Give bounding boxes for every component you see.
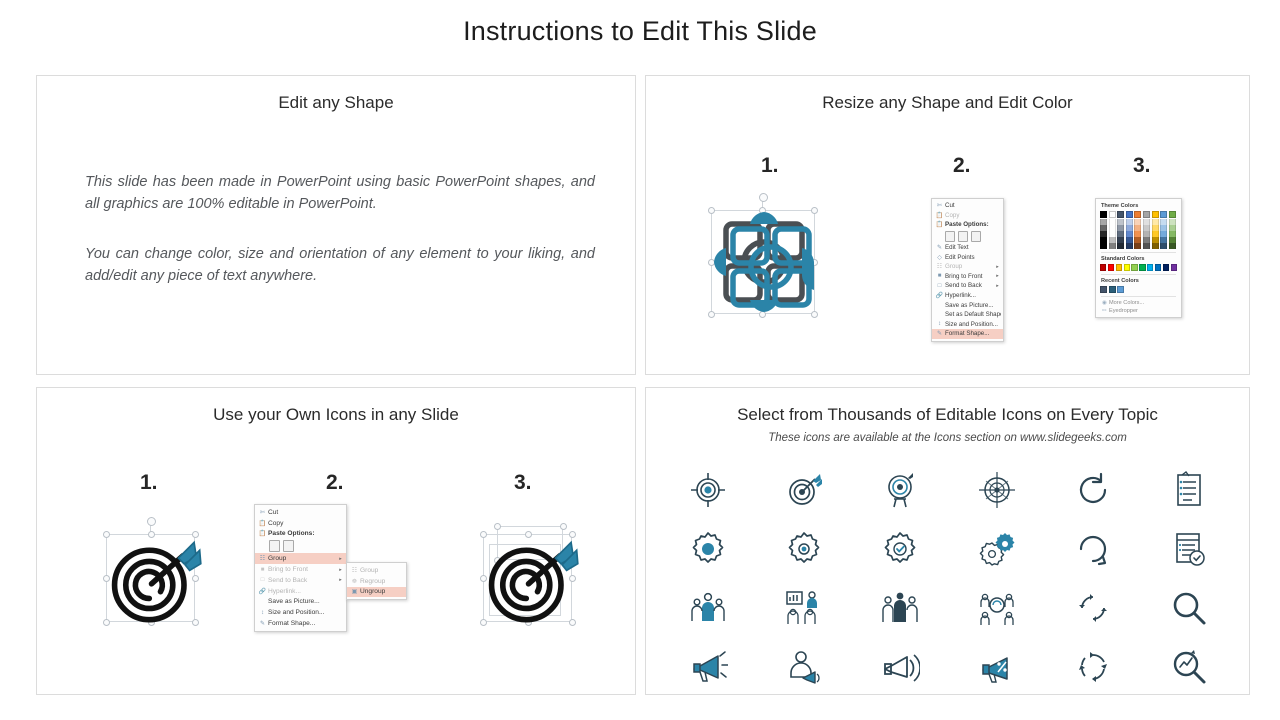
- panel-title-resize-shape: Resize any Shape and Edit Color: [646, 93, 1249, 113]
- palette-icon: ◉: [1100, 300, 1109, 306]
- icons-step-number-1: 1.: [140, 471, 158, 495]
- menu-item-label: Edit Points: [945, 254, 1001, 261]
- context-menu-group[interactable]: ✄Cut 📋Copy 📋Paste Options: ☷Group▸ ■Brin…: [254, 504, 347, 632]
- edit-points-icon: ◇: [934, 254, 945, 261]
- icon-cell-2-2[interactable]: [880, 588, 920, 628]
- standard-swatch-7[interactable]: [1155, 264, 1161, 271]
- chevron-right-icon: ▸: [994, 283, 1001, 289]
- bring-front-icon: ■: [934, 273, 945, 279]
- theme-tint-column-3[interactable]: [1126, 219, 1133, 249]
- menu-item-group[interactable]: ☷Group▸: [932, 262, 1003, 272]
- paste-icon: 📋: [257, 530, 268, 537]
- menu-item-label: Send to Back: [945, 282, 994, 289]
- double-gears-icon: [977, 529, 1017, 569]
- gear-outline-icon: [784, 529, 824, 569]
- divider: [1101, 252, 1176, 253]
- group-icon: ☷: [257, 555, 268, 562]
- paste-options-row[interactable]: [255, 539, 346, 553]
- eyedropper-item[interactable]: ✏Eyedropper: [1100, 308, 1177, 314]
- resize-step-number-2: 2.: [953, 154, 971, 178]
- ungroup-icon: ▣: [349, 588, 360, 595]
- menu-item-bring-to-front[interactable]: ■Bring to Front▸: [932, 272, 1003, 282]
- slide-canvas: Instructions to Edit This Slide Edit any…: [0, 0, 1280, 720]
- menu-item-save-as-picture[interactable]: Save as Picture...: [255, 596, 346, 607]
- paste-picture-icon[interactable]: [971, 231, 981, 242]
- edit-text-icon: ✎: [934, 244, 945, 251]
- scissors-icon: ✄: [257, 509, 268, 516]
- theme-swatch-1[interactable]: [1109, 211, 1116, 218]
- theme-tint-column-7[interactable]: [1160, 219, 1167, 249]
- icon-cell-1-0[interactable]: [688, 529, 728, 569]
- send-back-icon: □: [257, 577, 268, 583]
- menu-item-label: Send to Back: [268, 577, 337, 584]
- menu-item-paste-options[interactable]: 📋Paste Options:: [255, 529, 346, 540]
- menu-item-label: Format Shape...: [945, 330, 1001, 337]
- icons-step-number-2: 2.: [326, 471, 344, 495]
- submenu-item-group[interactable]: ☷Group: [347, 565, 406, 576]
- copy-icon: 📋: [257, 520, 268, 527]
- standard-swatch-1[interactable]: [1108, 264, 1114, 271]
- menu-item-format-shape[interactable]: ✎Format Shape...: [255, 618, 346, 629]
- menu-item-send-to-back[interactable]: □Send to Back▸: [932, 281, 1003, 291]
- menu-item-cut[interactable]: ✄Cut: [932, 201, 1003, 211]
- icon-cell-1-2[interactable]: [880, 529, 920, 569]
- icon-cell-3-2[interactable]: [880, 647, 920, 687]
- paste-icon: 📋: [934, 221, 945, 228]
- theme-tint-7-4[interactable]: [1160, 243, 1167, 249]
- presentation-team-icon: [784, 588, 824, 628]
- menu-item-label: Edit Text: [945, 244, 1001, 251]
- checklist-document-icon: [1169, 470, 1209, 510]
- icon-cell-3-0[interactable]: [688, 647, 728, 687]
- theme-colors-label: Theme Colors: [1101, 203, 1177, 209]
- theme-tint-column-8[interactable]: [1169, 219, 1176, 249]
- icon-cell-2-1[interactable]: [784, 588, 824, 628]
- chevron-right-icon: ▸: [337, 567, 344, 573]
- edit-shape-paragraph-1: This slide has been made in PowerPoint u…: [85, 171, 595, 216]
- recent-colors-row[interactable]: [1100, 286, 1177, 293]
- panel-resize-shape: Resize any Shape and Edit Color 1. 2. 3.: [645, 75, 1250, 375]
- paste-keep-formatting-icon[interactable]: [945, 231, 955, 242]
- theme-tint-4-4[interactable]: [1134, 243, 1141, 249]
- regroup-icon: ☸: [349, 578, 360, 585]
- standard-swatch-9[interactable]: [1171, 264, 1177, 271]
- menu-item-format-shape[interactable]: ✎Format Shape...: [932, 329, 1003, 339]
- edit-shape-paragraph-2: You can change color, size and orientati…: [85, 243, 595, 288]
- theme-tint-column-2[interactable]: [1117, 219, 1124, 249]
- scissors-icon: ✄: [934, 202, 945, 209]
- paste-keep-formatting-icon[interactable]: [269, 540, 280, 552]
- theme-tint-5-4[interactable]: [1143, 243, 1150, 249]
- menu-item-label: Size and Position...: [945, 321, 1001, 328]
- menu-item-size-and-position[interactable]: ↕Size and Position...: [932, 320, 1003, 330]
- menu-item-hyperlink[interactable]: 🔗Hyperlink...: [932, 291, 1003, 301]
- theme-swatch-5[interactable]: [1143, 211, 1150, 218]
- menu-item-label: Save as Picture...: [268, 598, 344, 605]
- recent-colors-label: Recent Colors: [1101, 278, 1177, 284]
- icon-grid: [660, 460, 1237, 696]
- icon-cell-1-3[interactable]: [977, 529, 1017, 569]
- icon-cell-0-4[interactable]: [1073, 470, 1113, 510]
- target-stand-icon: [880, 470, 920, 510]
- recent-swatch-2[interactable]: [1117, 286, 1124, 293]
- hyperlink-icon: 🔗: [257, 588, 268, 595]
- icon-cell-2-3[interactable]: [977, 588, 1017, 628]
- chevron-right-icon: ▸: [337, 577, 344, 583]
- theme-swatch-4[interactable]: [1134, 211, 1141, 218]
- menu-item-bring-to-front[interactable]: ■Bring to Front▸: [255, 564, 346, 575]
- refresh-circular-icon: [1073, 529, 1113, 569]
- chevron-right-icon: ▸: [994, 273, 1001, 279]
- theme-tints-grid[interactable]: [1100, 219, 1177, 249]
- menu-item-label: Format Shape...: [268, 620, 344, 627]
- recent-swatch-0[interactable]: [1100, 286, 1107, 293]
- theme-tint-0-4[interactable]: [1100, 243, 1107, 249]
- panel-title-edit-shape: Edit any Shape: [37, 93, 635, 113]
- divider: [1101, 296, 1176, 297]
- panel-own-icons: Use your Own Icons in any Slide 1. 2. 3.: [36, 387, 636, 695]
- standard-swatch-0[interactable]: [1100, 264, 1106, 271]
- size-position-icon: ↕: [257, 610, 268, 616]
- standard-colors-row[interactable]: [1100, 264, 1177, 271]
- standard-swatch-3[interactable]: [1124, 264, 1130, 271]
- format-shape-icon: ✎: [934, 330, 945, 337]
- group-people-icon: [880, 588, 920, 628]
- magnifier-icon: [1169, 588, 1209, 628]
- megaphone-filled-icon: [688, 647, 728, 687]
- target-dart-icon: [100, 520, 212, 632]
- target-icon-grouped[interactable]: [100, 520, 212, 632]
- menu-item-label: Hyperlink...: [268, 588, 344, 595]
- group-icon: ☷: [934, 263, 945, 270]
- resize-step-number-3: 3.: [1133, 154, 1151, 178]
- document-check-icon: [1169, 529, 1209, 569]
- menu-item-copy[interactable]: 📋Copy: [255, 518, 346, 529]
- theme-tint-column-6[interactable]: [1152, 219, 1159, 249]
- eyedropper-label: Eyedropper: [1109, 308, 1138, 314]
- panel-title-own-icons: Use your Own Icons in any Slide: [37, 405, 635, 425]
- standard-swatch-4[interactable]: [1131, 264, 1137, 271]
- size-position-icon: ↕: [934, 321, 945, 327]
- paste-picture-icon[interactable]: [283, 540, 294, 552]
- chevron-right-icon: ▸: [337, 556, 344, 562]
- theme-tint-column-4[interactable]: [1134, 219, 1141, 249]
- group-submenu[interactable]: ☷Group ☸Regroup ▣Ungroup: [346, 562, 407, 600]
- submenu-item-regroup[interactable]: ☸Regroup: [347, 576, 406, 587]
- target-crosshair-icon: [688, 470, 728, 510]
- standard-swatch-8[interactable]: [1163, 264, 1169, 271]
- menu-item-label: Bring to Front: [945, 273, 994, 280]
- icon-cell-2-5[interactable]: [1169, 588, 1209, 628]
- bring-front-icon: ■: [257, 567, 268, 573]
- color-picker-panel[interactable]: Theme Colors Standard Colors Recent Colo…: [1095, 198, 1182, 318]
- icon-cell-3-3[interactable]: [977, 647, 1017, 687]
- panel-editable-icons: Select from Thousands of Editable Icons …: [645, 387, 1250, 695]
- theme-tint-1-4[interactable]: [1109, 243, 1116, 249]
- more-colors-item[interactable]: ◉More Colors...: [1100, 300, 1177, 306]
- menu-item-size-and-position[interactable]: ↕Size and Position...: [255, 607, 346, 618]
- icon-cell-1-1[interactable]: [784, 529, 824, 569]
- theme-tint-column-5[interactable]: [1143, 219, 1150, 249]
- group-icon: ☷: [349, 567, 360, 574]
- icon-cell-0-1[interactable]: [784, 470, 824, 510]
- theme-swatch-8[interactable]: [1169, 211, 1176, 218]
- format-shape-icon: ✎: [257, 620, 268, 627]
- menu-item-label: Size and Position...: [268, 609, 344, 616]
- circular-arrows-icon: [1073, 647, 1113, 687]
- icon-cell-0-2[interactable]: [880, 470, 920, 510]
- menu-item-label: Copy: [945, 212, 1001, 219]
- theme-tint-8-4[interactable]: [1169, 243, 1176, 249]
- menu-item-hyperlink[interactable]: 🔗Hyperlink...: [255, 586, 346, 597]
- menu-item-label: Set as Default Shape: [945, 311, 1001, 318]
- menu-item-label: Save as Picture...: [945, 302, 1001, 309]
- icon-cell-0-0[interactable]: [688, 470, 728, 510]
- divider: [1101, 274, 1176, 275]
- refresh-clockwise-icon: [1073, 470, 1113, 510]
- theme-swatch-0[interactable]: [1100, 211, 1107, 218]
- leader-team-icon: [688, 588, 728, 628]
- menu-item-label: Ungroup: [360, 588, 404, 595]
- menu-item-group[interactable]: ☷Group▸: [255, 553, 346, 564]
- icon-cell-3-5[interactable]: [1169, 647, 1209, 687]
- standard-colors-label: Standard Colors: [1101, 256, 1177, 262]
- menu-item-save-as-picture[interactable]: Save as Picture...: [932, 300, 1003, 310]
- theme-tint-column-0[interactable]: [1100, 219, 1107, 249]
- chevron-right-icon: ▸: [994, 264, 1001, 270]
- copy-icon: 📋: [934, 212, 945, 219]
- page-title: Instructions to Edit This Slide: [0, 16, 1280, 47]
- icon-cell-2-4[interactable]: [1073, 588, 1113, 628]
- menu-item-label: Group: [360, 567, 404, 574]
- theme-tint-column-1[interactable]: [1109, 219, 1116, 249]
- paste-merge-formatting-icon[interactable]: [958, 231, 968, 242]
- icons-step-number-3: 3.: [514, 471, 532, 495]
- theme-tint-6-4[interactable]: [1152, 243, 1159, 249]
- menu-item-cut[interactable]: ✄Cut: [255, 507, 346, 518]
- icon-cell-1-5[interactable]: [1169, 529, 1209, 569]
- context-menu-format-shape[interactable]: ✄Cut 📋Copy 📋Paste Options: ✎Edit Text ◇E…: [931, 198, 1004, 342]
- menu-item-send-to-back[interactable]: □Send to Back▸: [255, 575, 346, 586]
- menu-item-label: Cut: [268, 509, 344, 516]
- menu-item-set-default-shape[interactable]: Set as Default Shape: [932, 310, 1003, 320]
- menu-item-label: Paste Options:: [268, 530, 344, 537]
- icon-cell-2-0[interactable]: [688, 588, 728, 628]
- resize-step-number-1: 1.: [761, 154, 779, 178]
- target-dart-icon: [784, 470, 824, 510]
- icon-cell-0-3[interactable]: [977, 470, 1017, 510]
- crosshair-scope-icon: [977, 470, 1017, 510]
- menu-item-label: Copy: [268, 520, 344, 527]
- sync-arrows-icon: [1073, 588, 1113, 628]
- submenu-item-ungroup[interactable]: ▣Ungroup: [347, 587, 406, 598]
- icon-cell-1-4[interactable]: [1073, 529, 1113, 569]
- person-megaphone-icon: [784, 647, 824, 687]
- menu-item-label: Hyperlink...: [945, 292, 1001, 299]
- menu-item-label: Group: [945, 263, 994, 270]
- icon-cell-3-4[interactable]: [1073, 647, 1113, 687]
- panel-subtitle-editable-icons: These icons are available at the Icons s…: [646, 432, 1249, 444]
- gear-check-icon: [880, 529, 920, 569]
- four-square-ring-shape: [706, 198, 831, 323]
- hyperlink-icon: 🔗: [934, 292, 945, 299]
- menu-item-copy[interactable]: 📋Copy: [932, 211, 1003, 221]
- menu-item-label: Bring to Front: [268, 566, 337, 573]
- megaphone-percent-icon: [977, 647, 1017, 687]
- recent-swatch-1[interactable]: [1109, 286, 1116, 293]
- icon-cell-3-1[interactable]: [784, 647, 824, 687]
- magnifier-chart-icon: [1169, 647, 1209, 687]
- gear-filled-icon: [688, 529, 728, 569]
- standard-swatch-6[interactable]: [1147, 264, 1153, 271]
- menu-item-label: Cut: [945, 202, 1001, 209]
- speaker-outline-icon: [880, 647, 920, 687]
- theme-swatch-2[interactable]: [1117, 211, 1124, 218]
- theme-tint-3-4[interactable]: [1126, 243, 1133, 249]
- panel-title-editable-icons: Select from Thousands of Editable Icons …: [646, 405, 1249, 425]
- resize-shape-artwork[interactable]: [706, 198, 831, 323]
- theme-swatch-7[interactable]: [1160, 211, 1167, 218]
- menu-item-edit-text[interactable]: ✎Edit Text: [932, 243, 1003, 253]
- team-meeting-icon: [977, 588, 1017, 628]
- menu-item-label: Regroup: [360, 578, 404, 585]
- theme-colors-row[interactable]: [1100, 211, 1177, 218]
- icon-cell-0-5[interactable]: [1169, 470, 1209, 510]
- target-dart-icon: [477, 520, 589, 632]
- panel-edit-any-shape: Edit any Shape This slide has been made …: [36, 75, 636, 375]
- menu-item-paste-options[interactable]: 📋Paste Options:: [932, 220, 1003, 230]
- standard-swatch-5[interactable]: [1139, 264, 1145, 271]
- target-icon-ungrouped[interactable]: [477, 520, 589, 632]
- paste-options-row[interactable]: [932, 230, 1003, 243]
- menu-item-label: Group: [268, 555, 337, 562]
- menu-item-edit-points[interactable]: ◇Edit Points: [932, 252, 1003, 262]
- menu-item-label: Paste Options:: [945, 221, 1001, 228]
- send-back-icon: □: [934, 283, 945, 289]
- theme-swatch-6[interactable]: [1152, 211, 1159, 218]
- theme-swatch-3[interactable]: [1126, 211, 1133, 218]
- standard-swatch-2[interactable]: [1116, 264, 1122, 271]
- theme-tint-2-4[interactable]: [1117, 243, 1124, 249]
- eyedropper-icon: ✏: [1100, 308, 1109, 314]
- more-colors-label: More Colors...: [1109, 300, 1144, 306]
